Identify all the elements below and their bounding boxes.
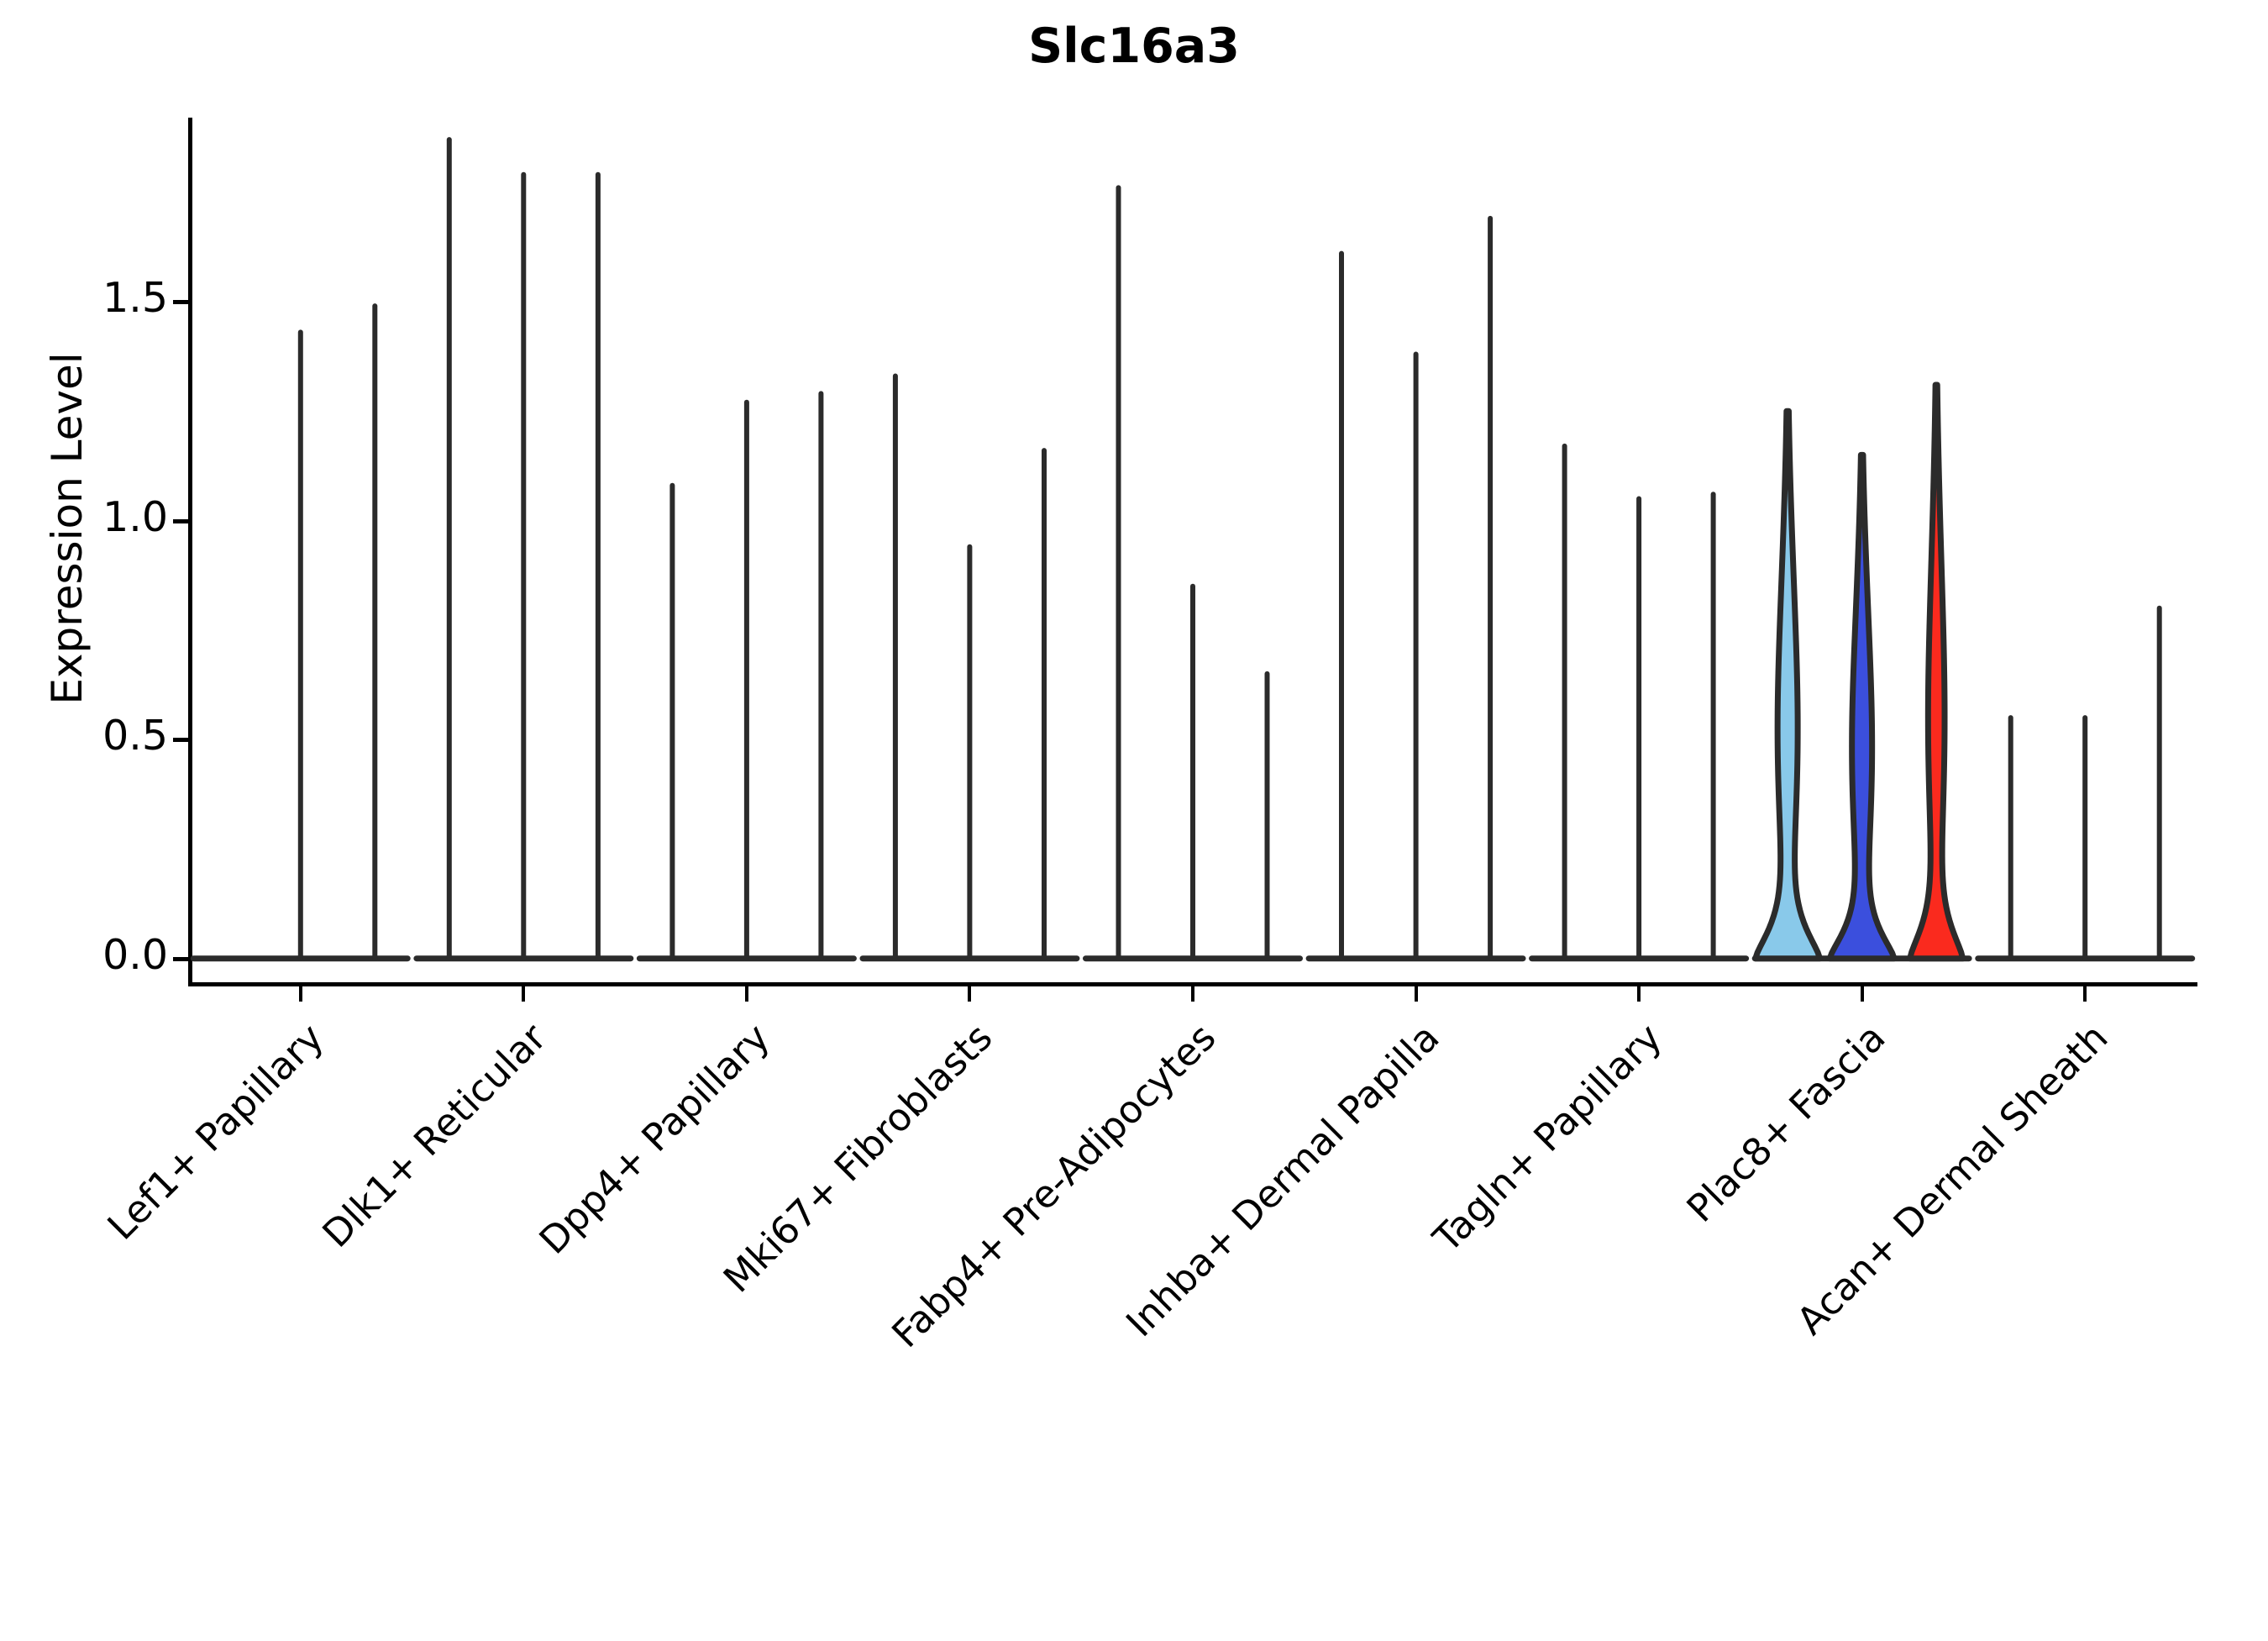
y-tick-label: 1.5 <box>0 274 190 322</box>
y-tick-label: 1.0 <box>0 493 190 541</box>
violin-plot-figure: Slc16a3 Expression Level 0.00.51.01.5 Le… <box>0 0 2268 1512</box>
x-tick-mark <box>522 986 525 1002</box>
x-tick-mark <box>1637 986 1641 1002</box>
x-tick-mark <box>745 986 748 1002</box>
y-tick-label: 0.5 <box>0 712 190 760</box>
violin-shape <box>1910 385 1963 959</box>
x-tick-mark <box>1415 986 1418 1002</box>
x-tick-mark <box>299 986 302 1002</box>
violin-shape <box>1830 455 1894 958</box>
x-tick-mark <box>1191 986 1194 1002</box>
violin-shape <box>1756 411 1820 959</box>
x-tick-mark <box>968 986 971 1002</box>
x-tick-mark <box>2083 986 2087 1002</box>
page-title: Slc16a3 <box>0 18 2268 74</box>
y-tick-label: 0.0 <box>0 931 190 979</box>
violin-series-layer <box>189 118 2197 985</box>
x-tick-mark <box>1861 986 1864 1002</box>
